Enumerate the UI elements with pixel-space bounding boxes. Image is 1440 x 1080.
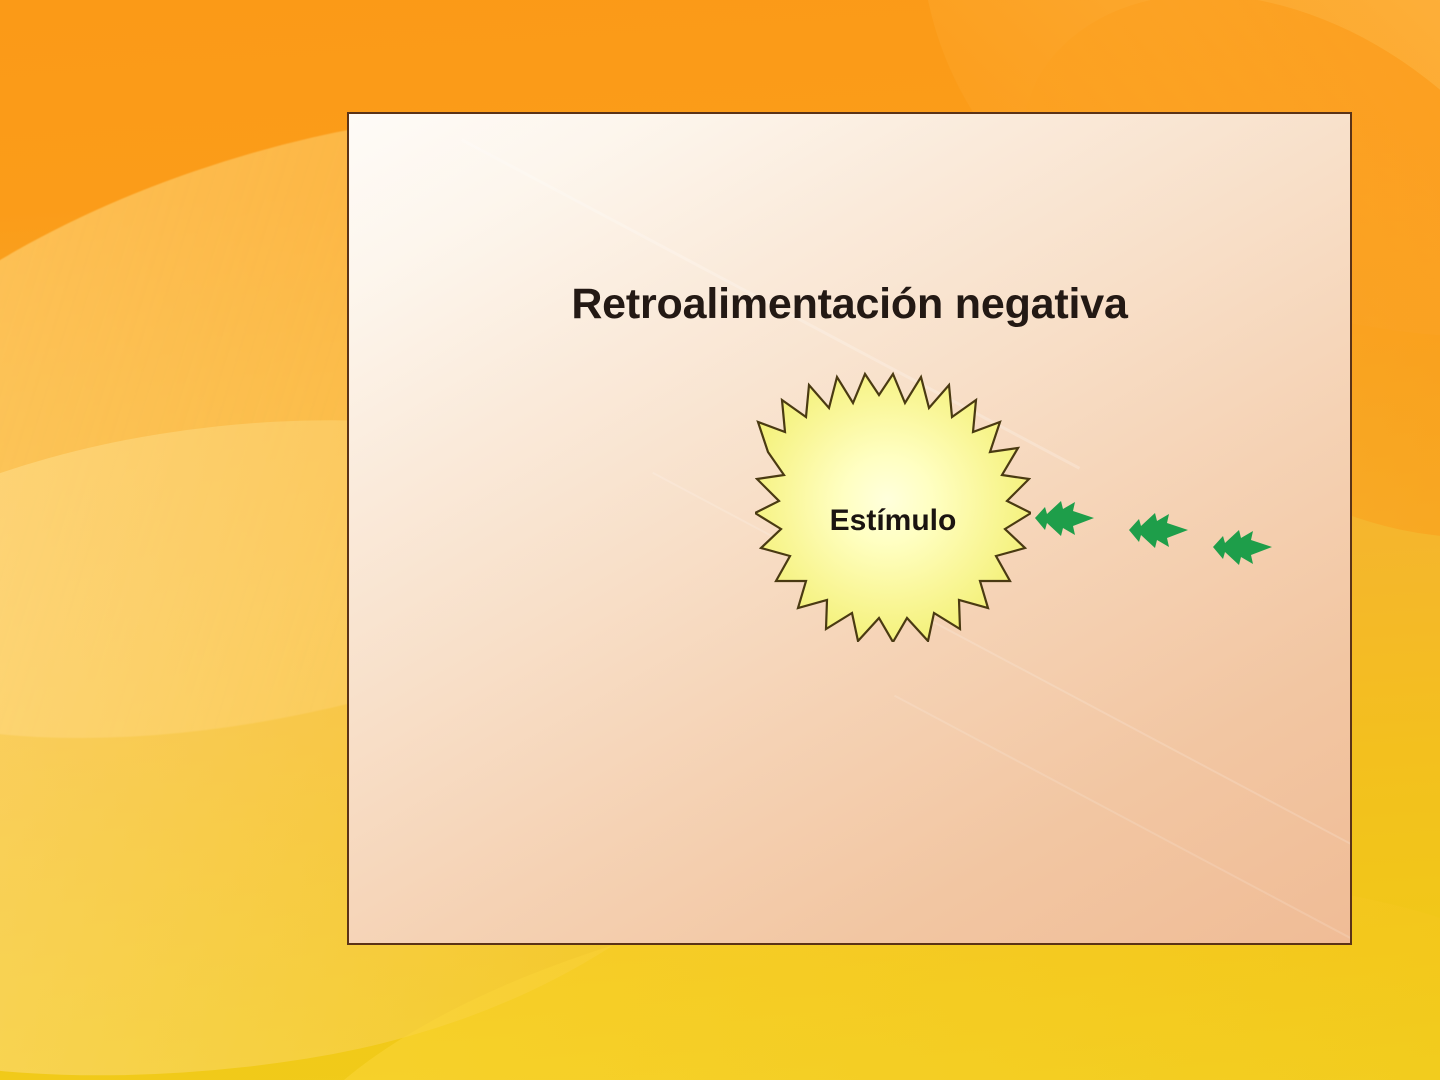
- connector-arrow-3[interactable]: [1211, 526, 1273, 568]
- diagram-node-stimulus[interactable]: Estímulo: [755, 370, 1031, 642]
- diagram-node-label-stimulus: Estímulo: [755, 504, 1031, 538]
- page-title: Retroalimentación negativa: [349, 280, 1350, 329]
- presentation-slide: Retroalimentación negativa Estímulo: [0, 0, 1440, 1080]
- arrow-right-icon: [1033, 497, 1095, 539]
- connector-arrow-1[interactable]: [1033, 497, 1095, 539]
- panel-texture-streak: [894, 695, 1352, 945]
- slide-content-panel: Retroalimentación negativa Estímulo: [347, 112, 1352, 945]
- connector-arrow-2[interactable]: [1127, 509, 1189, 551]
- arrow-right-icon: [1127, 509, 1189, 551]
- arrow-right-icon: [1211, 526, 1273, 568]
